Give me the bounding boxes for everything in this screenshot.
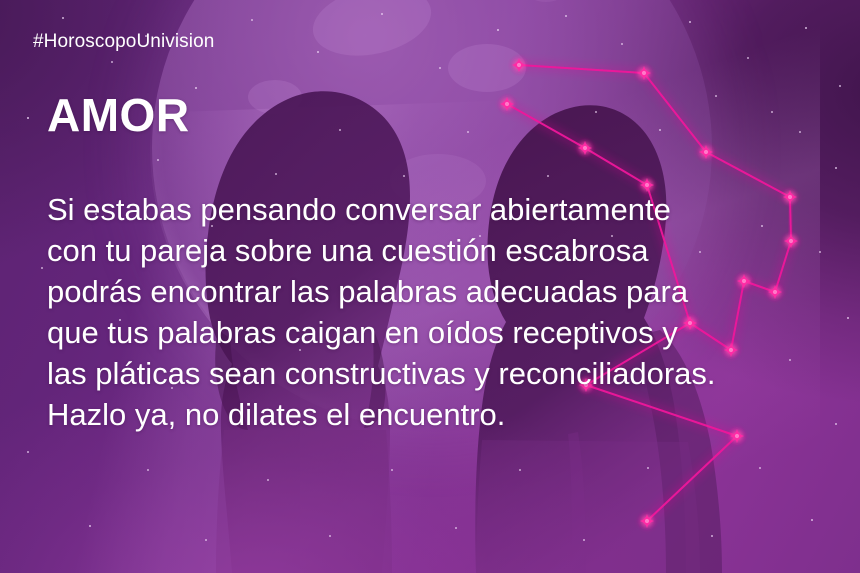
constellation-line xyxy=(519,65,644,73)
body-line: que tus palabras caigan en oídos recepti… xyxy=(47,312,827,353)
constellation-line xyxy=(585,148,647,185)
horoscope-card: #HoroscopoUnivision AMOR Si estabas pens… xyxy=(0,0,860,573)
body-line: Hazlo ya, no dilates el encuentro. xyxy=(47,394,827,435)
constellation-line xyxy=(507,104,585,148)
constellation-star-icon xyxy=(512,58,526,72)
body-line: con tu pareja sobre una cuestión escabro… xyxy=(47,230,827,271)
constellation-line xyxy=(644,73,706,152)
constellation-line xyxy=(647,436,737,521)
horoscope-body-text: Si estabas pensando conversar abiertamen… xyxy=(47,189,827,435)
page-title: AMOR xyxy=(47,92,190,138)
constellation-star-icon xyxy=(578,141,592,155)
hashtag-label: #HoroscopoUnivision xyxy=(33,31,214,53)
body-line: las pláticas sean constructivas y reconc… xyxy=(47,353,827,394)
body-line: Si estabas pensando conversar abiertamen… xyxy=(47,189,827,230)
body-line: podrás encontrar las palabras adecuadas … xyxy=(47,271,827,312)
constellation-star-icon xyxy=(500,97,514,111)
